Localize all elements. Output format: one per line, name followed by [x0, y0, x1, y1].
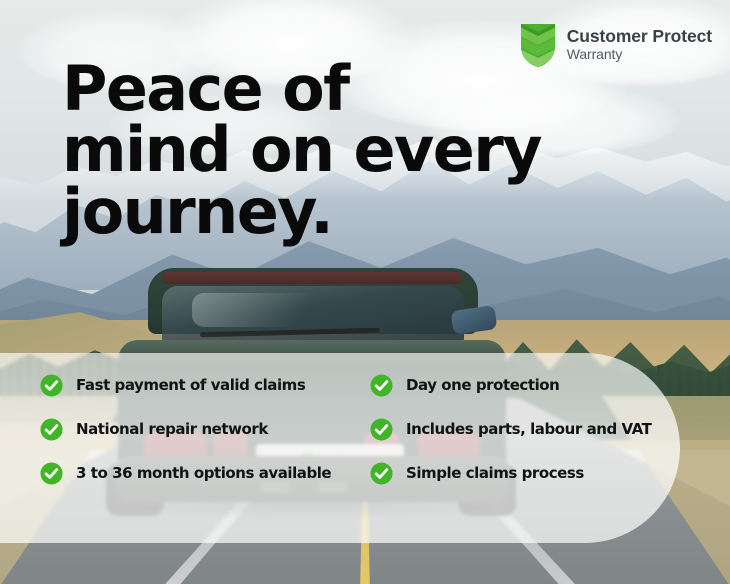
headline-line-3: journey.: [62, 181, 541, 242]
headline-line-1: Peace of: [62, 58, 541, 119]
list-item: Day one protection: [370, 363, 680, 407]
list-item: Includes parts, labour and VAT: [370, 407, 680, 451]
feature-label: National repair network: [76, 420, 268, 438]
brand-text: Customer Protect Warranty: [567, 27, 712, 62]
page-title: Peace of mind on every journey.: [62, 58, 541, 242]
feature-label: Day one protection: [406, 376, 559, 394]
brand-subtitle: Warranty: [567, 47, 712, 63]
feature-label: Includes parts, labour and VAT: [406, 420, 651, 438]
promo-banner: Customer ProtectWarranty: [0, 0, 730, 584]
check-circle-icon: [40, 374, 63, 397]
vehicle-spoiler: [162, 272, 462, 284]
rear-window: [162, 286, 464, 348]
list-item: Fast payment of valid claims: [40, 363, 370, 407]
list-item: National repair network: [40, 407, 370, 451]
check-circle-icon: [370, 418, 393, 441]
wing-mirror: [451, 305, 498, 335]
feature-label: 3 to 36 month options available: [76, 464, 331, 482]
feature-list: Fast payment of valid claims Day one pro…: [40, 363, 680, 495]
list-item: Simple claims process: [370, 451, 680, 495]
feature-label: Simple claims process: [406, 464, 584, 482]
list-item: 3 to 36 month options available: [40, 451, 370, 495]
check-circle-icon: [40, 462, 63, 485]
check-circle-icon: [370, 374, 393, 397]
brand-title: Customer Protect: [567, 27, 712, 47]
check-circle-icon: [40, 418, 63, 441]
brand-logo[interactable]: Customer Protect Warranty: [520, 22, 712, 68]
headline-line-2: mind on every: [62, 119, 541, 180]
feature-label: Fast payment of valid claims: [76, 376, 305, 394]
check-circle-icon: [370, 462, 393, 485]
